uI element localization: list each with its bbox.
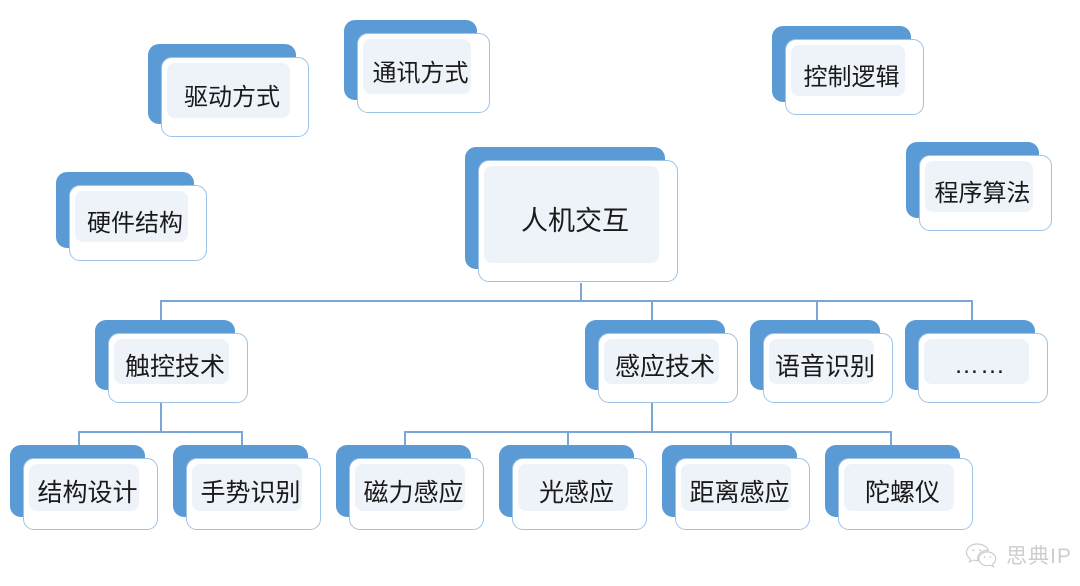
node-more[interactable]: …… <box>905 320 1035 390</box>
node-label: 感应技术 <box>598 333 738 403</box>
node-label: 驱动方式 <box>161 57 309 137</box>
node-label: 控制逻辑 <box>785 39 924 115</box>
node-control-logic[interactable]: 控制逻辑 <box>772 26 911 102</box>
node-light-sensing[interactable]: 光感应 <box>499 445 634 517</box>
node-touch-technology[interactable]: 触控技术 <box>95 320 235 390</box>
node-label: 光感应 <box>512 458 647 530</box>
node-label: 结构设计 <box>23 458 158 530</box>
connector-drop-magnetic <box>404 431 406 445</box>
connector-drop-gesture <box>241 431 243 445</box>
node-root-human-machine-interaction[interactable]: 人机交互 <box>465 147 665 269</box>
node-structural-design[interactable]: 结构设计 <box>10 445 145 517</box>
node-gesture-recognition[interactable]: 手势识别 <box>173 445 308 517</box>
node-magnetic-sensing[interactable]: 磁力感应 <box>336 445 471 517</box>
connector-drop-touch <box>160 300 162 320</box>
node-distance-sensing[interactable]: 距离感应 <box>662 445 797 517</box>
connector-drop-distance <box>730 431 732 445</box>
node-hardware-structure[interactable]: 硬件结构 <box>56 172 194 248</box>
node-label: 通讯方式 <box>357 33 490 113</box>
watermark-text: 思典IP <box>1006 540 1072 570</box>
connector-drop-light <box>567 431 569 445</box>
node-gyroscope[interactable]: 陀螺仪 <box>825 445 960 517</box>
connector-drop-sensor <box>651 300 653 320</box>
node-label: 磁力感应 <box>349 458 484 530</box>
watermark: 思典IP <box>965 540 1072 570</box>
node-label: 人机交互 <box>478 160 678 282</box>
node-drive-method[interactable]: 驱动方式 <box>148 44 296 124</box>
connector-touch-bus <box>78 431 243 433</box>
connector-drop-more <box>971 300 973 320</box>
node-label: 硬件结构 <box>69 185 207 261</box>
node-program-algorithm[interactable]: 程序算法 <box>906 142 1039 218</box>
node-label: 程序算法 <box>919 155 1052 231</box>
connector-drop-gyro <box>890 431 892 445</box>
connector-root-stem <box>580 283 582 301</box>
node-label: 距离感应 <box>675 458 810 530</box>
node-voice-recognition[interactable]: 语音识别 <box>750 320 880 390</box>
wechat-icon <box>965 542 999 568</box>
connector-sensor-stem <box>651 403 653 431</box>
connector-drop-structure <box>78 431 80 445</box>
node-label: 触控技术 <box>108 333 248 403</box>
diagram-canvas: 驱动方式 通讯方式 控制逻辑 程序算法 硬件结构 人机交互 <box>0 0 1080 586</box>
node-communication-method[interactable]: 通讯方式 <box>344 20 477 100</box>
node-label: …… <box>918 333 1048 403</box>
node-label: 手势识别 <box>186 458 321 530</box>
node-label: 语音识别 <box>763 333 893 403</box>
connector-main-bus <box>160 300 973 302</box>
connector-touch-stem <box>160 403 162 431</box>
connector-sensor-bus <box>404 431 892 433</box>
node-label: 陀螺仪 <box>838 458 973 530</box>
node-sensing-technology[interactable]: 感应技术 <box>585 320 725 390</box>
connector-drop-voice <box>816 300 818 320</box>
